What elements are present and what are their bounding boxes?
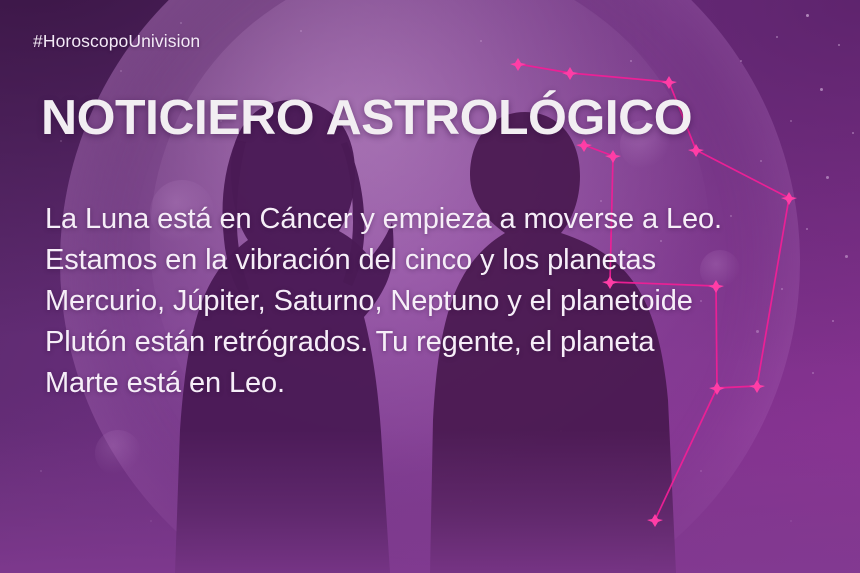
hashtag-label: #HoroscopoUnivision [33,31,200,52]
page-title: NOTICIERO ASTROLÓGICO [41,92,692,144]
body-line: La Luna está en Cáncer y empieza a mover… [45,199,835,240]
body-line: Mercurio, Júpiter, Saturno, Neptuno y el… [45,281,835,322]
body-line: Marte está en Leo. [45,363,835,404]
horoscope-body-text: La Luna está en Cáncer y empieza a mover… [45,199,835,404]
body-line: Plutón están retrógrados. Tu regente, el… [45,322,835,363]
horoscope-card: #HoroscopoUnivision NOTICIERO ASTROLÓGIC… [0,0,860,573]
body-line: Estamos en la vibración del cinco y los … [45,240,835,281]
text-content: #HoroscopoUnivision NOTICIERO ASTROLÓGIC… [0,0,860,573]
